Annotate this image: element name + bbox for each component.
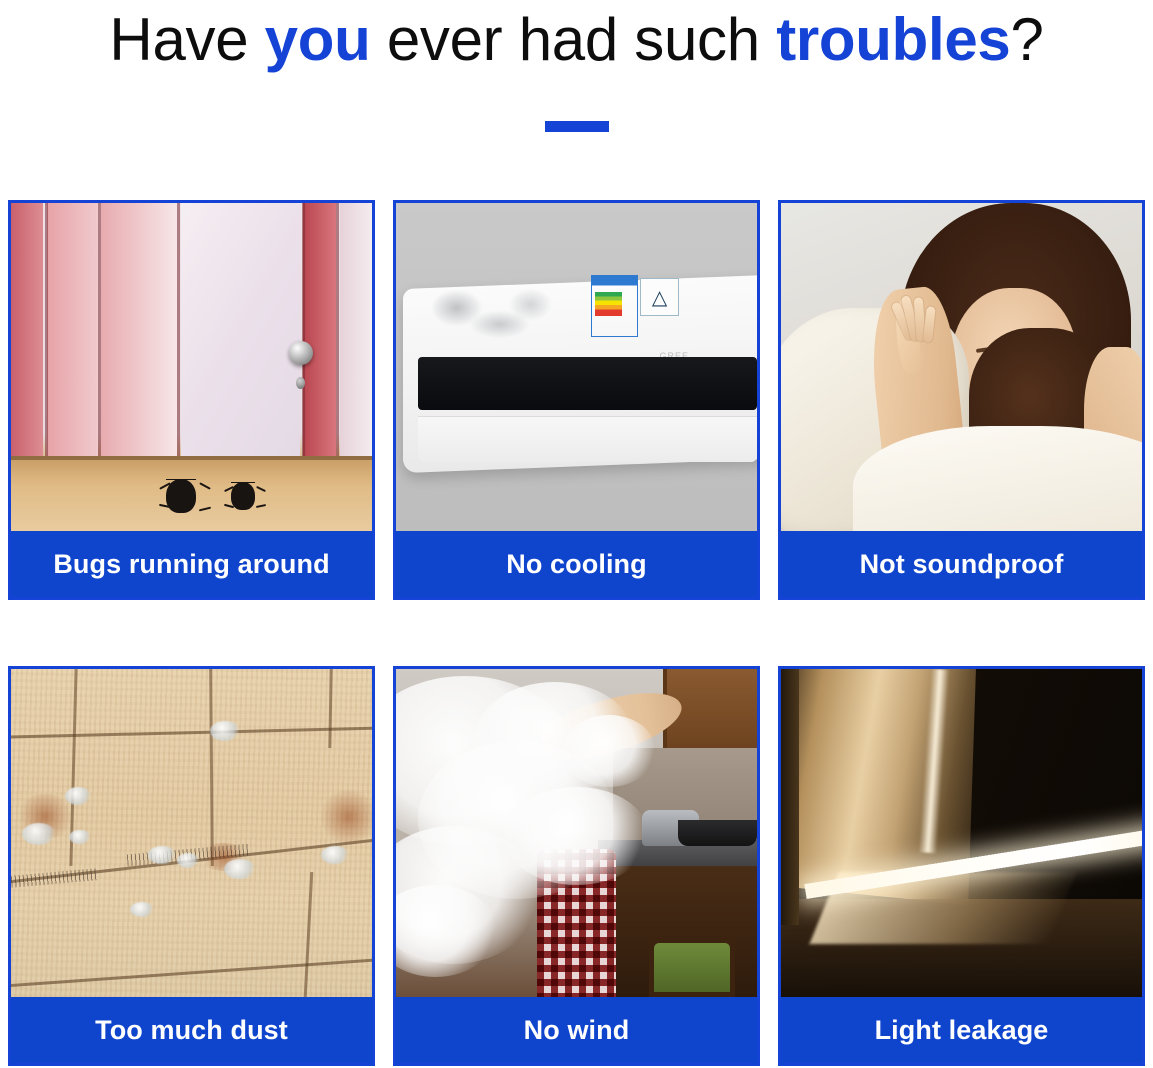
trouble-card[interactable]: △ GREE No cooling [393, 200, 760, 600]
trouble-card-label: Not soundproof [781, 531, 1142, 597]
divider-container [0, 118, 1153, 136]
trouble-card-label: Bugs running around [11, 531, 372, 597]
red-door-with-bugs-image [11, 203, 372, 531]
dusty-floor-image [11, 669, 372, 997]
trouble-card-label: Light leakage [781, 997, 1142, 1063]
headline-segment-2: ever had such [370, 6, 776, 73]
trouble-card[interactable]: Light leakage [778, 666, 1145, 1066]
promo-banner: Have you ever had such troubles? [0, 0, 1153, 1068]
trouble-card-label: No wind [396, 997, 757, 1063]
trouble-card[interactable]: Not soundproof [778, 200, 1145, 600]
headline-accent-troubles: troubles [776, 6, 1010, 73]
headline-segment-3: ? [1011, 6, 1044, 73]
smoky-kitchen-image [396, 669, 757, 997]
trouble-card-grid: Bugs running around △ GREE No cooling [8, 200, 1145, 1066]
headline-segment-1: Have [109, 6, 264, 73]
light-leakage-image [781, 669, 1142, 997]
headline-accent-you: you [265, 6, 371, 73]
horizontal-rule-icon [545, 121, 609, 132]
trouble-card-label: No cooling [396, 531, 757, 597]
page-title: Have you ever had such troubles? [0, 2, 1153, 78]
trouble-card[interactable]: No wind [393, 666, 760, 1066]
trouble-card-label: Too much dust [11, 997, 372, 1063]
trouble-card[interactable]: Too much dust [8, 666, 375, 1066]
woman-covering-ears-image [781, 203, 1142, 531]
air-conditioner-image: △ GREE [396, 203, 757, 531]
trouble-card[interactable]: Bugs running around [8, 200, 375, 600]
